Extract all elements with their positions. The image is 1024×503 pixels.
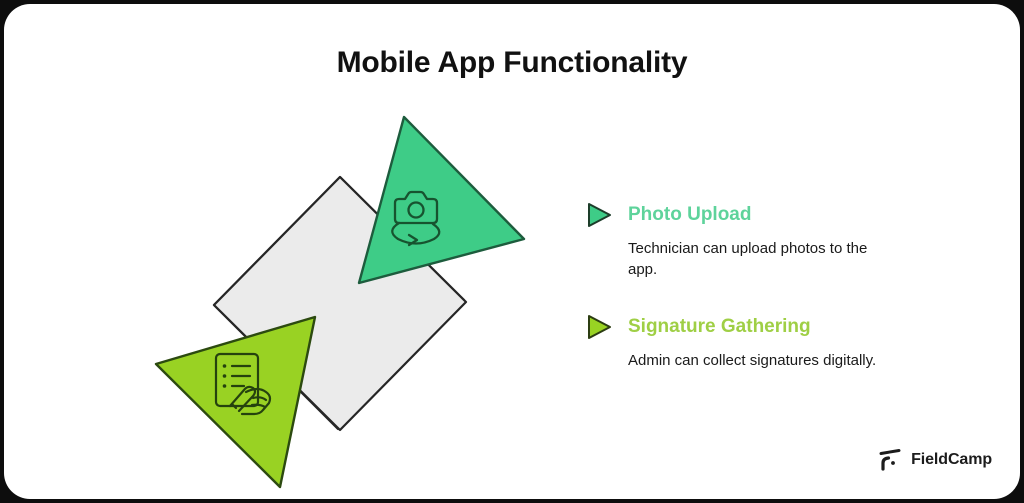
illustration [134, 99, 554, 499]
logo-wordmark: FieldCamp [911, 451, 992, 469]
feature-header: Photo Upload [584, 200, 914, 230]
feature-description: Technician can upload photos to the app. [628, 239, 886, 280]
feature-description: Admin can collect signatures digitally. [628, 351, 886, 372]
screenshot-root: Mobile App Functionality [0, 0, 1024, 503]
feature-item-photo-upload: Photo Upload Technician can upload photo… [584, 200, 914, 280]
page-title: Mobile App Functionality [4, 46, 1020, 80]
triangle-right-icon [584, 312, 614, 342]
feature-title: Signature Gathering [628, 317, 811, 338]
content-card: Mobile App Functionality [4, 4, 1020, 499]
feature-list: Photo Upload Technician can upload photo… [584, 200, 914, 404]
feature-item-signature-gathering: Signature Gathering Admin can collect si… [584, 312, 914, 372]
mint-triangle [359, 117, 524, 283]
feature-title: Photo Upload [628, 205, 751, 226]
fieldcamp-logo: FieldCamp [878, 447, 992, 473]
fieldcamp-signal-icon [878, 447, 904, 473]
triangle-right-icon [584, 200, 614, 230]
lime-triangle [156, 317, 315, 487]
feature-header: Signature Gathering [584, 312, 914, 342]
